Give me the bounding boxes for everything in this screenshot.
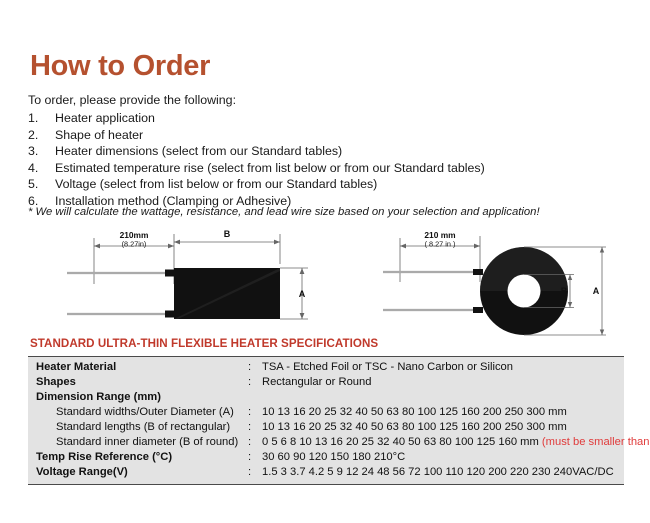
row-colon: : [248,420,262,435]
row-label: Standard inner diameter (B of round) [36,435,248,450]
row-value: 10 13 16 20 25 32 40 50 63 80 100 125 16… [262,405,624,420]
list-item-label: Heater application [55,110,155,127]
row-colon: : [248,450,262,465]
row-value: TSA - Etched Foil or TSC - Nano Carbon o… [262,360,624,375]
row-colon: : [248,435,262,450]
rect-height-label: A [299,289,306,299]
footnote: * We will calculate the wattage, resista… [28,206,540,218]
row-label: Dimension Range (mm) [36,390,248,405]
list-item: 2. Shape of heater [28,127,628,144]
round-lead-length-mm: 210 mm [424,230,455,240]
rect-width-label: B [224,229,231,239]
row-value: Rectangular or Round [262,375,624,390]
list-item-number: 1. [28,110,55,127]
list-item-label: Heater dimensions (select from our Stand… [55,143,342,160]
list-item-number: 3. [28,143,55,160]
rect-lead-length-mm: 210mm [120,230,149,240]
table-row: Heater Material : TSA - Etched Foil or T… [28,360,624,375]
table-row: Standard widths/Outer Diameter (A) : 10 … [28,405,624,420]
diagram-area: 210mm (8.27in) B A [0,226,650,336]
row-value-text: 0 5 6 8 10 13 16 20 25 32 40 50 63 80 10… [262,436,542,448]
row-value: 10 13 16 20 25 32 40 50 63 80 100 125 16… [262,420,624,435]
list-item-number: 4. [28,160,55,177]
round-outer-label: A [593,286,600,296]
list-item-number: 5. [28,176,55,193]
list-item-number: 2. [28,127,55,144]
row-label: Standard lengths (B of rectangular) [36,420,248,435]
row-value-annotation: (must be smaller than A) [542,436,650,448]
list-item: 1. Heater application [28,110,628,127]
order-steps-list: 1. Heater application 2. Shape of heater… [28,110,628,210]
round-heater-diagram: 210 mm ( 8.27 in ) B A [378,226,640,336]
spec-section-title: STANDARD ULTRA-THIN FLEXIBLE HEATER SPEC… [30,337,378,350]
row-value: 30 60 90 120 150 180 210°C [262,450,624,465]
list-item: 4. Estimated temperature rise (select fr… [28,160,628,177]
row-label: Standard widths/Outer Diameter (A) [36,405,248,420]
rect-lead-length-in: (8.27in) [122,240,147,249]
rectangular-heater-diagram: 210mm (8.27in) B A [62,226,327,336]
table-row: Shapes : Rectangular or Round [28,375,624,390]
list-item-label: Shape of heater [55,127,143,144]
row-value: 1.5 3 3.7 4.2 5 9 12 24 48 56 72 100 110… [262,465,624,480]
page-title: How to Order [30,50,210,83]
intro-text: To order, please provide the following: [28,93,236,107]
list-item: 3. Heater dimensions (select from our St… [28,143,628,160]
table-row: Standard inner diameter (B of round) : 0… [28,435,624,450]
row-label: Shapes [36,375,248,390]
row-colon: : [248,375,262,390]
list-item-label: Estimated temperature rise (select from … [55,160,485,177]
row-colon: : [248,465,262,480]
round-lead-length-in: ( 8.27 in ) [425,240,456,249]
row-value: 0 5 6 8 10 13 16 20 25 32 40 50 63 80 10… [262,435,650,450]
row-label: Voltage Range(V) [36,465,248,480]
row-colon: : [248,405,262,420]
round-inner-label: B [561,286,568,296]
table-row: Dimension Range (mm) [28,390,624,405]
table-row: Standard lengths (B of rectangular) : 10… [28,420,624,435]
table-row: Temp Rise Reference (°C) : 30 60 90 120 … [28,450,624,465]
list-item: 5. Voltage (select from list below or fr… [28,176,628,193]
row-label: Temp Rise Reference (°C) [36,450,248,465]
row-colon: : [248,360,262,375]
row-label: Heater Material [36,360,248,375]
spec-table: Heater Material : TSA - Etched Foil or T… [28,356,624,485]
list-item-label: Voltage (select from list below or from … [55,176,377,193]
table-row: Voltage Range(V) : 1.5 3 3.7 4.2 5 9 12 … [28,465,624,480]
